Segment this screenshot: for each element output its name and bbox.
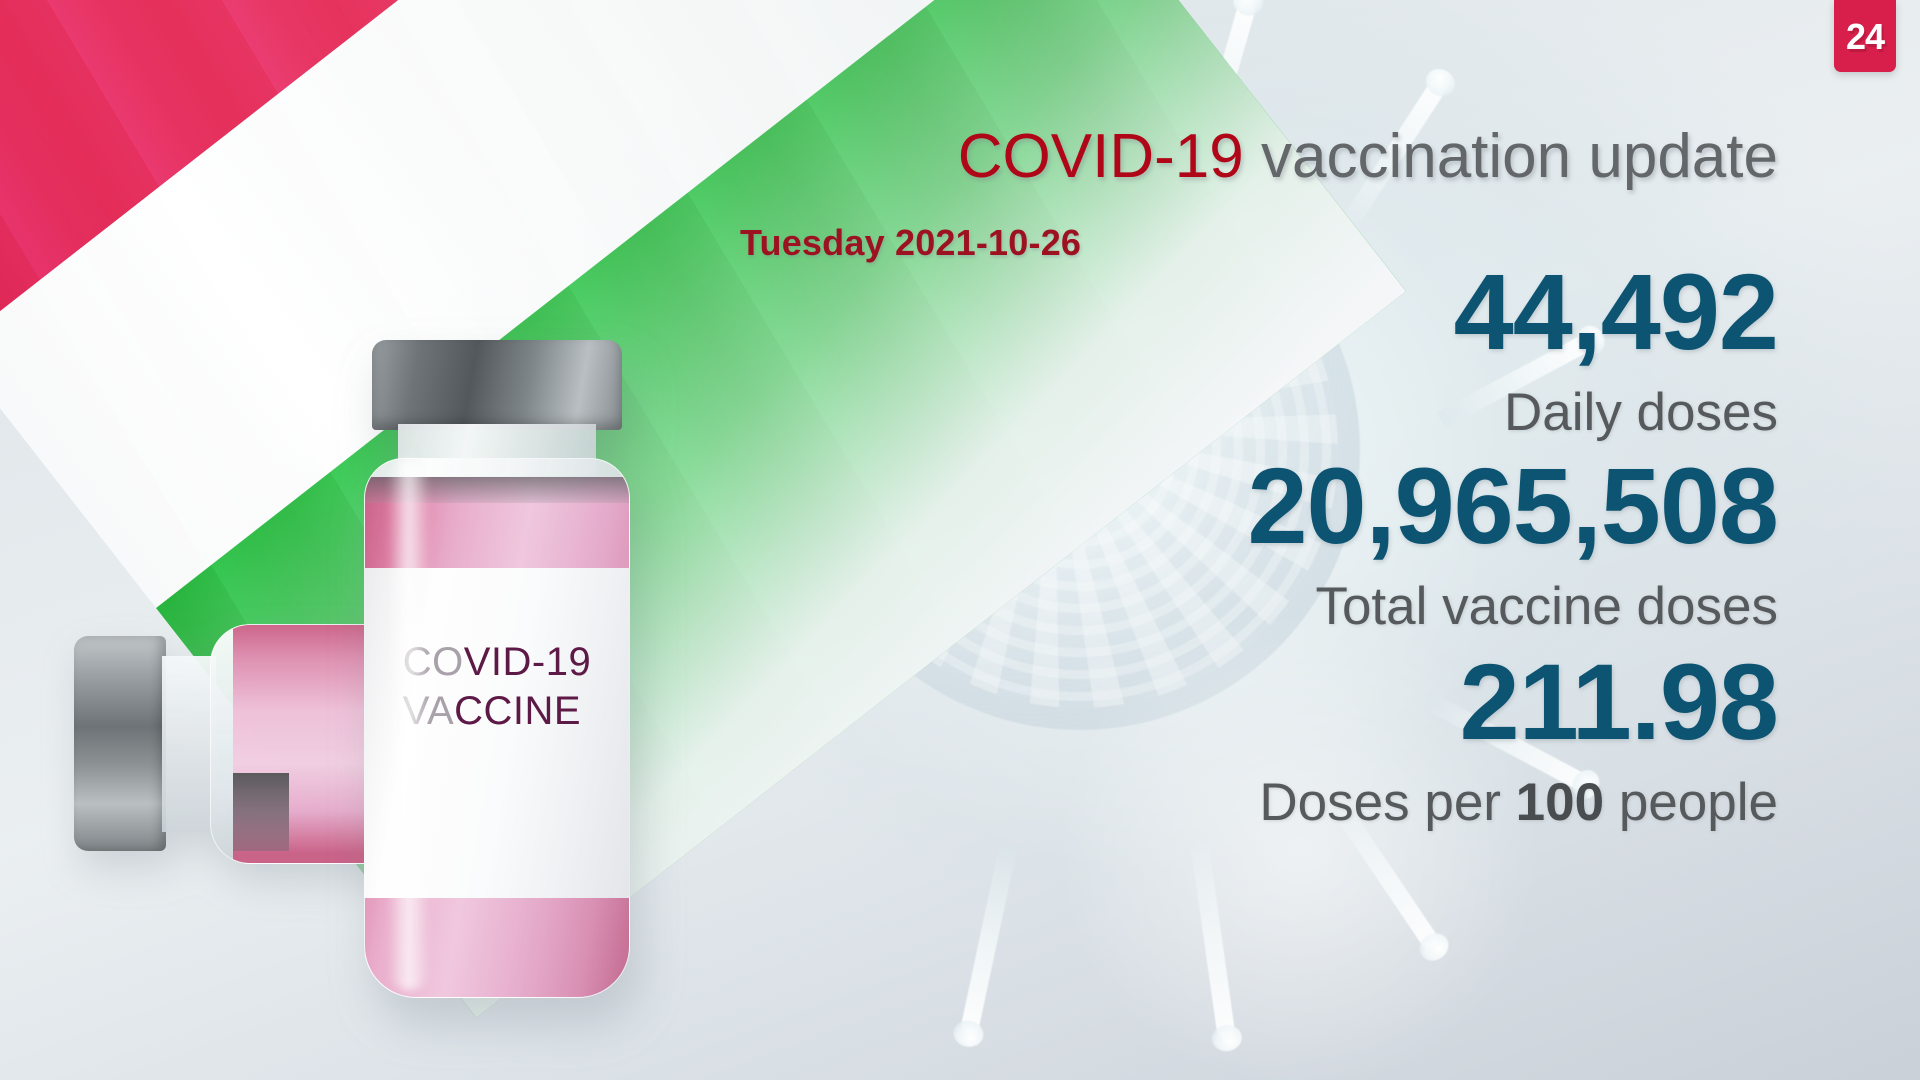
- stat-label-suffix: people: [1604, 773, 1778, 832]
- stat-value: 211.98: [718, 648, 1778, 756]
- vial-neck: [162, 656, 216, 832]
- stat-label-prefix: Doses per: [1259, 773, 1515, 832]
- stats-panel: COVID-19 vaccination update Tuesday 2021…: [718, 0, 1778, 1080]
- vaccine-vial-upright: COVID-19 VACCINE: [352, 340, 642, 1000]
- stat-label: Total vaccine doses: [718, 580, 1778, 633]
- stat-total-doses: 20,965,508 Total vaccine doses: [718, 452, 1778, 633]
- infographic-canvas: COVID-19 VACCINE 24 COVID-19 vaccination…: [0, 0, 1920, 1080]
- page-title: COVID-19 vaccination update: [958, 126, 1778, 188]
- stat-value: 44,492: [718, 258, 1778, 366]
- title-rest: vaccination update: [1244, 122, 1778, 191]
- stat-label-emphasis: 100: [1516, 773, 1604, 832]
- channel-24-logo[interactable]: 24: [1834, 0, 1896, 72]
- stat-daily-doses: 44,492 Daily doses: [718, 258, 1778, 439]
- vial-cap: [74, 636, 166, 851]
- title-highlight: COVID-19: [958, 122, 1244, 191]
- vial-label-line2-strong: CCINE: [454, 689, 581, 733]
- vial-shadow-band: [233, 773, 289, 851]
- vial-cap: [372, 340, 622, 430]
- stat-doses-per-100: 211.98 Doses per 100 people: [718, 648, 1778, 829]
- logo-text: 24: [1846, 19, 1884, 55]
- stat-label: Daily doses: [718, 386, 1778, 439]
- vial-label-text: COVID-19 VACCINE: [403, 638, 592, 736]
- vial-label-line1-strong: VID-19: [464, 640, 592, 684]
- stat-label: Doses per 100 people: [718, 776, 1778, 829]
- vial-glass-highlight: [388, 460, 430, 990]
- stat-value: 20,965,508: [718, 452, 1778, 560]
